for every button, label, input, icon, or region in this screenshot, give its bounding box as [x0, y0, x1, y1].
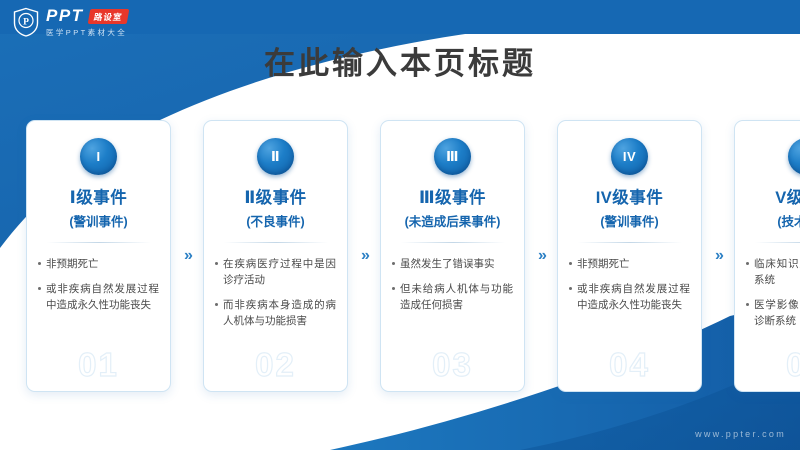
list-item: 临床知识库与决策辅助系统: [746, 256, 800, 288]
bullet-text: 在疾病医疗过程中是因诊疗活动: [223, 256, 336, 288]
bullet-dot-icon: [215, 262, 218, 265]
card-divider: [578, 242, 682, 243]
logo-ppt-text: PPT: [46, 6, 84, 26]
card-number-watermark: 05: [735, 346, 800, 384]
card-number-watermark: 02: [204, 346, 347, 384]
event-card[interactable]: IV IV级事件 (警训事件) 非预期死亡 或非疾病自然发展过程中造成永久性功能…: [557, 120, 702, 392]
bullet-dot-icon: [569, 287, 572, 290]
card-subtitle: (未造成后果事件): [405, 211, 501, 230]
level-badge: Ⅲ: [434, 138, 471, 175]
page-title: 在此输入本页标题: [0, 38, 800, 83]
card-title: Ⅱ级事件: [244, 184, 306, 208]
bullet-text: 虽然发生了错误事实: [400, 256, 513, 272]
chevron-right-icon: »: [702, 120, 734, 392]
list-item: 非预期死亡: [38, 256, 159, 272]
bullet-dot-icon: [392, 262, 395, 265]
card-divider: [224, 242, 328, 243]
event-card[interactable]: Ⅱ Ⅱ级事件 (不良事件) 在疾病医疗过程中是因诊疗活动 而非疾病本身造成的病人…: [203, 120, 348, 392]
list-item: 非预期死亡: [569, 256, 690, 272]
bullet-text: 非预期死亡: [46, 256, 159, 272]
card-subtitle: (不良事件): [246, 211, 304, 230]
bullet-text: 或非疾病自然发展过程中造成永久性功能丧失: [46, 281, 159, 313]
card-wrap-3: Ⅲ Ⅲ级事件 (未造成后果事件) 虽然发生了错误事实 但未给病人机体与功能造成任…: [380, 120, 557, 392]
card-title: Ⅰ级事件: [70, 184, 128, 208]
shield-icon: P: [12, 7, 40, 37]
chevron-right-icon: »: [348, 120, 380, 392]
bullet-text: 非预期死亡: [577, 256, 690, 272]
card-divider: [47, 242, 151, 243]
level-badge: Ⅱ: [257, 138, 294, 175]
card-divider: [755, 242, 800, 243]
bullet-list: 临床知识库与决策辅助系统 医学影像人工智能辅助诊断系统: [746, 256, 800, 329]
bullet-text: 临床知识库与决策辅助系统: [754, 256, 800, 288]
list-item: 或非疾病自然发展过程中造成永久性功能丧失: [38, 281, 159, 313]
list-item: 或非疾病自然发展过程中造成永久性功能丧失: [569, 281, 690, 313]
card-wrap-1: I Ⅰ级事件 (警训事件) 非预期死亡 或非疾病自然发展过程中造成永久性功能丧失…: [26, 120, 203, 392]
list-item: 医学影像人工智能辅助诊断系统: [746, 297, 800, 329]
card-title: Ⅲ级事件: [419, 184, 486, 208]
card-number-watermark: 04: [558, 346, 701, 384]
card-list: I Ⅰ级事件 (警训事件) 非预期死亡 或非疾病自然发展过程中造成永久性功能丧失…: [26, 120, 774, 392]
bullet-text: 但未给病人机体与功能造成任何损害: [400, 281, 513, 313]
bullet-text: 或非疾病自然发展过程中造成永久性功能丧失: [577, 281, 690, 313]
chevron-right-icon: »: [525, 120, 557, 392]
card-number-watermark: 03: [381, 346, 524, 384]
bullet-dot-icon: [392, 287, 395, 290]
bullet-dot-icon: [38, 262, 41, 265]
card-subtitle: (警训事件): [69, 211, 127, 230]
card-wrap-4: IV IV级事件 (警训事件) 非预期死亡 或非疾病自然发展过程中造成永久性功能…: [557, 120, 734, 392]
card-number-watermark: 01: [27, 346, 170, 384]
list-item: 虽然发生了错误事实: [392, 256, 513, 272]
card-wrap-5: V V级事件 (技术创新) 临床知识库与决策辅助系统 医学影像人工智能辅助诊断系…: [734, 120, 800, 392]
event-card[interactable]: V V级事件 (技术创新) 临床知识库与决策辅助系统 医学影像人工智能辅助诊断系…: [734, 120, 800, 392]
site-watermark: www.ppter.com: [695, 429, 786, 439]
logo-badge: 路设室: [87, 9, 128, 24]
card-title: V级事件: [775, 184, 800, 208]
level-badge: I: [80, 138, 117, 175]
list-item: 而非疾病本身造成的病人机体与功能损害: [215, 297, 336, 329]
brand-logo[interactable]: P PPT 路设室 医学PPT素材大全: [12, 6, 127, 38]
bullet-text: 而非疾病本身造成的病人机体与功能损害: [223, 297, 336, 329]
bullet-list: 非预期死亡 或非疾病自然发展过程中造成永久性功能丧失: [569, 256, 690, 313]
card-title: IV级事件: [596, 184, 664, 208]
bullet-text: 医学影像人工智能辅助诊断系统: [754, 297, 800, 329]
bullet-dot-icon: [746, 262, 749, 265]
bullet-list: 非预期死亡 或非疾病自然发展过程中造成永久性功能丧失: [38, 256, 159, 313]
list-item: 但未给病人机体与功能造成任何损害: [392, 281, 513, 313]
svg-text:P: P: [23, 18, 29, 28]
card-subtitle: (技术创新): [777, 211, 800, 230]
logo-subtitle: 医学PPT素材大全: [46, 27, 127, 38]
level-badge: IV: [611, 138, 648, 175]
level-badge: V: [788, 138, 800, 175]
card-divider: [401, 242, 505, 243]
list-item: 在疾病医疗过程中是因诊疗活动: [215, 256, 336, 288]
bullet-dot-icon: [38, 287, 41, 290]
bullet-list: 虽然发生了错误事实 但未给病人机体与功能造成任何损害: [392, 256, 513, 313]
event-card[interactable]: I Ⅰ级事件 (警训事件) 非预期死亡 或非疾病自然发展过程中造成永久性功能丧失…: [26, 120, 171, 392]
card-subtitle: (警训事件): [600, 211, 658, 230]
bullet-list: 在疾病医疗过程中是因诊疗活动 而非疾病本身造成的病人机体与功能损害: [215, 256, 336, 329]
bullet-dot-icon: [215, 303, 218, 306]
chevron-right-icon: »: [171, 120, 203, 392]
bullet-dot-icon: [746, 303, 749, 306]
event-card[interactable]: Ⅲ Ⅲ级事件 (未造成后果事件) 虽然发生了错误事实 但未给病人机体与功能造成任…: [380, 120, 525, 392]
card-wrap-2: Ⅱ Ⅱ级事件 (不良事件) 在疾病医疗过程中是因诊疗活动 而非疾病本身造成的病人…: [203, 120, 380, 392]
bullet-dot-icon: [569, 262, 572, 265]
slide-canvas: P PPT 路设室 医学PPT素材大全 在此输入本页标题 I Ⅰ级事件 (警训事…: [0, 0, 800, 450]
